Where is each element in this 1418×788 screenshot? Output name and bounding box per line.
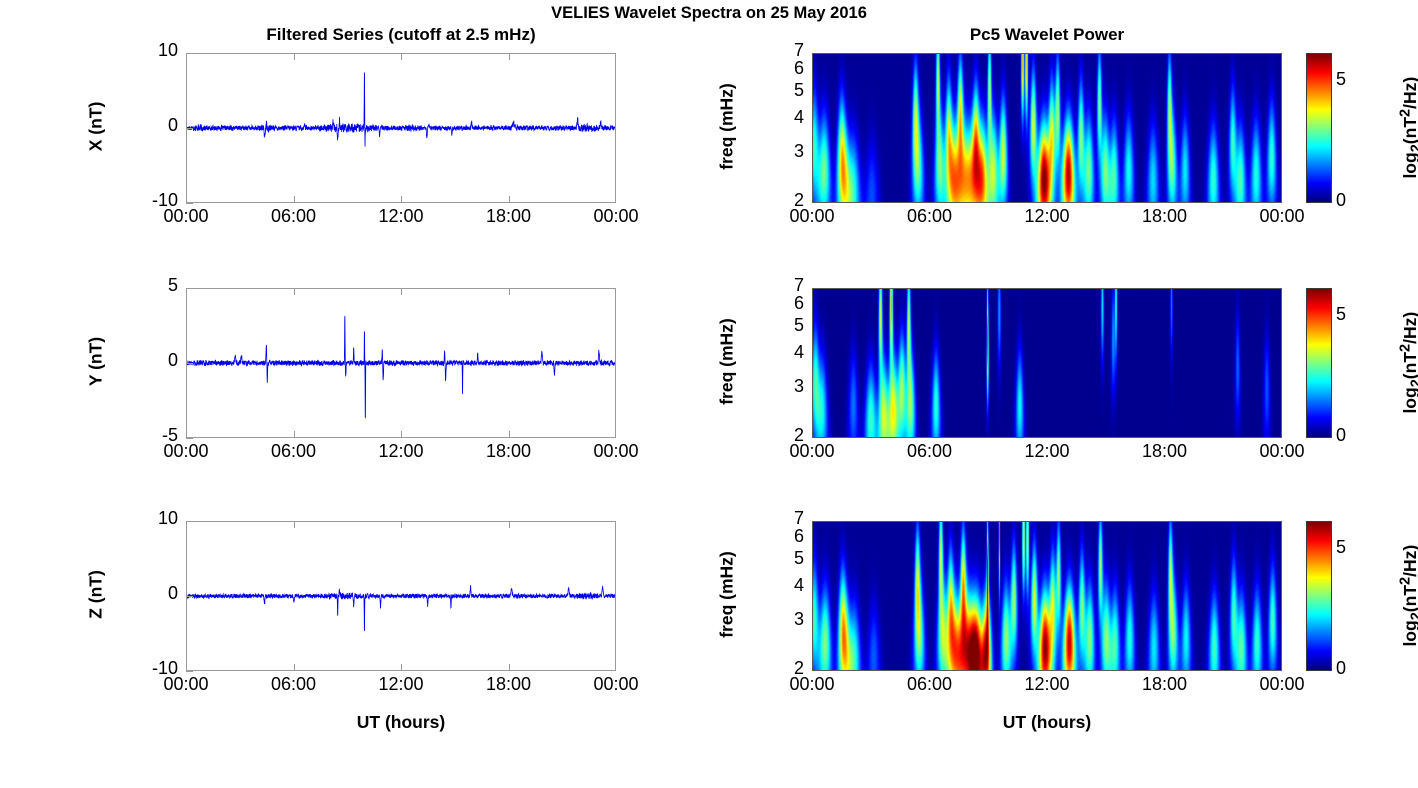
- figure-canvas: VELIES Wavelet Spectra on 25 May 2016 Fi…: [0, 0, 1418, 788]
- freq-tick-label: 7: [764, 508, 804, 529]
- x-tick-label: 00:00: [141, 441, 231, 462]
- spectrogram-image: [813, 522, 1281, 670]
- x-tick-mark: [401, 664, 402, 671]
- x-tick-label: 00:00: [141, 206, 231, 227]
- x-tick-label: 00:00: [571, 206, 661, 227]
- y-tick-mark: [186, 521, 193, 522]
- x-tick-mark: [509, 53, 510, 60]
- colorbar-gradient: [1307, 289, 1331, 437]
- colorbar: [1306, 53, 1332, 203]
- spectrogram-image: [813, 289, 1281, 437]
- x-tick-label: 00:00: [1237, 206, 1327, 227]
- colorbar-tick-label: 0: [1336, 190, 1356, 211]
- x-tick-label: 06:00: [885, 674, 975, 695]
- x-tick-label: 12:00: [356, 674, 446, 695]
- x-tick-label: 00:00: [767, 674, 857, 695]
- figure-suptitle: VELIES Wavelet Spectra on 25 May 2016: [0, 4, 1418, 23]
- y-tick-mark: [186, 128, 193, 129]
- timeseries-plot-y: [186, 288, 616, 438]
- x-tick-mark: [509, 431, 510, 438]
- colorbar-gradient: [1307, 522, 1331, 670]
- x-tick-label: 00:00: [1237, 441, 1327, 462]
- x-tick-mark: [509, 288, 510, 295]
- freq-axis-label: freq (mHz): [717, 302, 738, 422]
- y-tick-mark: [186, 203, 193, 204]
- colorbar-tick-label: 5: [1336, 69, 1356, 90]
- freq-tick-label: 4: [764, 107, 804, 128]
- spectrogram-image: [813, 54, 1281, 202]
- freq-tick-label: 3: [764, 376, 804, 397]
- spectrogram-plot-z: [812, 521, 1282, 671]
- colorbar-tick-label: 0: [1336, 425, 1356, 446]
- freq-tick-label: 4: [764, 342, 804, 363]
- y-tick-mark: [186, 363, 193, 364]
- colorbar-tick-label: 5: [1336, 537, 1356, 558]
- x-tick-label: 06:00: [249, 206, 339, 227]
- colorbar: [1306, 521, 1332, 671]
- y-tick-mark: [186, 438, 193, 439]
- colorbar-axis-label: log2(nT2/Hz): [1397, 521, 1418, 671]
- freq-tick-label: 4: [764, 575, 804, 596]
- freq-tick-label: 6: [764, 293, 804, 314]
- colorbar-axis-label: log2(nT2/Hz): [1397, 53, 1418, 203]
- right-xaxis-label: UT (hours): [812, 712, 1282, 733]
- x-tick-label: 18:00: [1120, 441, 1210, 462]
- freq-tick-label: 6: [764, 58, 804, 79]
- timeseries-plot-z: [186, 521, 616, 671]
- x-tick-mark: [294, 196, 295, 203]
- freq-tick-label: 7: [764, 275, 804, 296]
- y-axis-label: X (nT): [86, 67, 107, 187]
- x-tick-label: 18:00: [1120, 206, 1210, 227]
- left-xaxis-label: UT (hours): [186, 712, 616, 733]
- x-tick-label: 00:00: [571, 441, 661, 462]
- x-tick-label: 06:00: [885, 206, 975, 227]
- x-tick-label: 12:00: [1002, 674, 1092, 695]
- x-tick-label: 18:00: [1120, 674, 1210, 695]
- freq-tick-label: 3: [764, 609, 804, 630]
- y-tick-mark: [186, 53, 193, 54]
- freq-tick-label: 6: [764, 526, 804, 547]
- x-tick-mark: [401, 431, 402, 438]
- x-tick-mark: [509, 664, 510, 671]
- freq-tick-label: 3: [764, 141, 804, 162]
- spectrogram-plot-y: [812, 288, 1282, 438]
- x-tick-mark: [401, 521, 402, 528]
- x-tick-mark: [509, 521, 510, 528]
- left-column-title: Filtered Series (cutoff at 2.5 mHz): [186, 25, 616, 45]
- colorbar-gradient: [1307, 54, 1331, 202]
- y-tick-mark: [186, 671, 193, 672]
- x-tick-label: 18:00: [464, 441, 554, 462]
- x-tick-label: 18:00: [464, 206, 554, 227]
- x-tick-mark: [294, 664, 295, 671]
- freq-tick-label: 5: [764, 315, 804, 336]
- y-axis-label: Y (nT): [86, 302, 107, 422]
- spectrogram-plot-x: [812, 53, 1282, 203]
- colorbar: [1306, 288, 1332, 438]
- x-tick-label: 00:00: [1237, 674, 1327, 695]
- colorbar-tick-label: 5: [1336, 304, 1356, 325]
- freq-tick-label: 5: [764, 80, 804, 101]
- colorbar-axis-label: log2(nT2/Hz): [1397, 288, 1418, 438]
- x-tick-mark: [294, 521, 295, 528]
- x-tick-label: 12:00: [356, 441, 446, 462]
- x-tick-mark: [401, 53, 402, 60]
- y-tick-label: 0: [120, 350, 178, 371]
- x-tick-label: 06:00: [249, 674, 339, 695]
- timeseries-signal: [187, 54, 615, 202]
- y-tick-label: 0: [120, 115, 178, 136]
- timeseries-plot-x: [186, 53, 616, 203]
- y-tick-mark: [186, 596, 193, 597]
- x-tick-label: 00:00: [141, 674, 231, 695]
- x-tick-label: 12:00: [1002, 441, 1092, 462]
- x-tick-mark: [294, 288, 295, 295]
- y-axis-label: Z (nT): [86, 535, 107, 655]
- y-tick-label: 10: [120, 40, 178, 61]
- timeseries-signal: [187, 289, 615, 437]
- x-tick-mark: [294, 53, 295, 60]
- x-tick-label: 06:00: [249, 441, 339, 462]
- x-tick-label: 12:00: [356, 206, 446, 227]
- x-tick-label: 06:00: [885, 441, 975, 462]
- freq-tick-label: 5: [764, 548, 804, 569]
- y-tick-mark: [186, 288, 193, 289]
- freq-axis-label: freq (mHz): [717, 67, 738, 187]
- freq-axis-label: freq (mHz): [717, 535, 738, 655]
- x-tick-label: 12:00: [1002, 206, 1092, 227]
- freq-tick-label: 7: [764, 40, 804, 61]
- x-tick-label: 00:00: [767, 206, 857, 227]
- x-tick-label: 00:00: [571, 674, 661, 695]
- y-tick-label: 10: [120, 508, 178, 529]
- x-tick-mark: [509, 196, 510, 203]
- x-tick-mark: [401, 196, 402, 203]
- y-tick-label: 0: [120, 583, 178, 604]
- timeseries-signal: [187, 522, 615, 670]
- x-tick-mark: [294, 431, 295, 438]
- right-column-title: Pc5 Wavelet Power: [812, 25, 1282, 45]
- x-tick-mark: [401, 288, 402, 295]
- y-tick-label: 5: [120, 275, 178, 296]
- x-tick-label: 18:00: [464, 674, 554, 695]
- colorbar-tick-label: 0: [1336, 658, 1356, 679]
- x-tick-label: 00:00: [767, 441, 857, 462]
